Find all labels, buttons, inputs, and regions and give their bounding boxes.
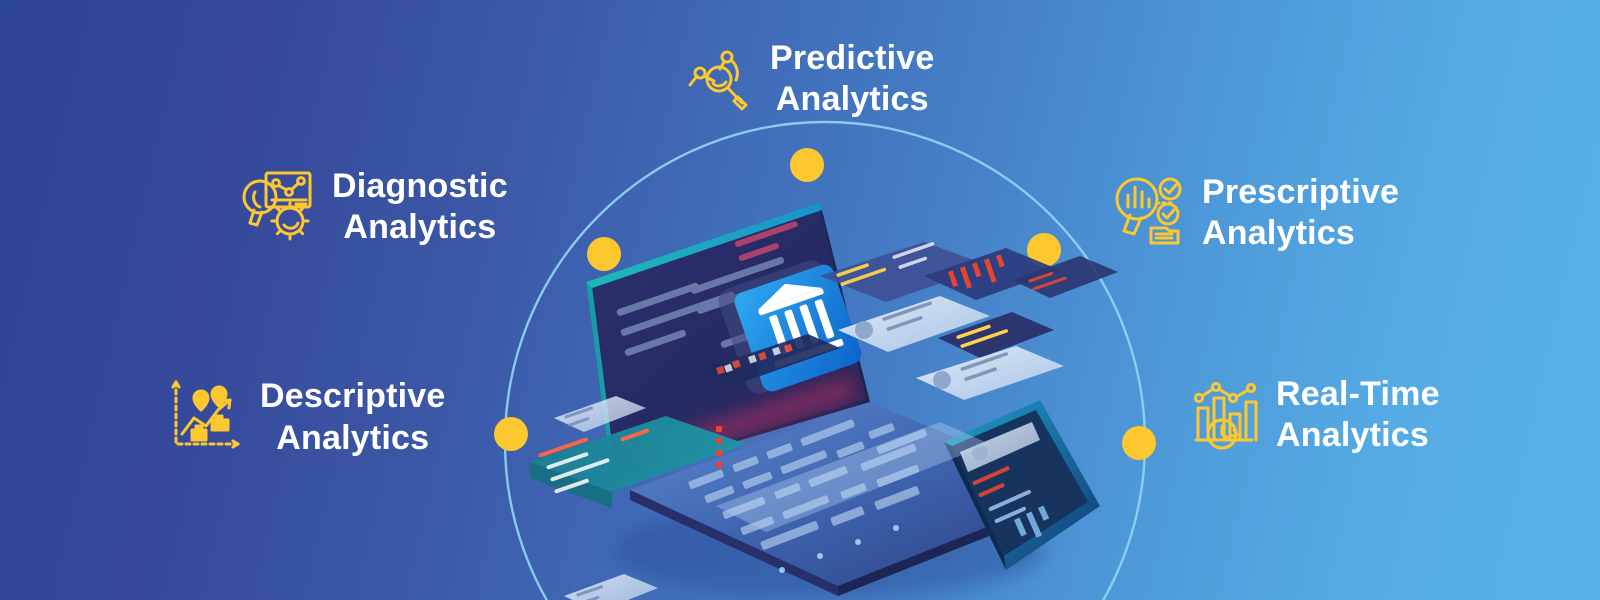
central-illustration [520, 190, 1140, 600]
orbit-dot-predictive[interactable] [790, 148, 824, 182]
node-diagnostic-label: Diagnostic Analytics [332, 166, 508, 249]
infographic-banner: Predictive Analytics Diagnostic Anal [0, 0, 1600, 600]
node-predictive-label: Predictive Analytics [770, 38, 935, 121]
node-realtime-label: Real-Time Analytics [1276, 374, 1440, 457]
predictive-analytics-icon [686, 41, 754, 118]
node-descriptive[interactable]: Descriptive Analytics [166, 376, 446, 459]
node-diagnostic[interactable]: Diagnostic Analytics [240, 166, 508, 249]
floating-card-lower-left [564, 574, 658, 600]
realtime-analytics-icon [1188, 376, 1260, 455]
prescriptive-analytics-icon [1110, 173, 1186, 254]
descriptive-analytics-icon [166, 376, 244, 459]
diagnostic-analytics-icon [240, 167, 316, 248]
node-predictive[interactable]: Predictive Analytics [686, 38, 935, 121]
node-prescriptive[interactable]: Prescriptive Analytics [1110, 172, 1399, 255]
node-realtime[interactable]: Real-Time Analytics [1188, 374, 1440, 457]
node-descriptive-label: Descriptive Analytics [260, 376, 446, 459]
node-prescriptive-label: Prescriptive Analytics [1202, 172, 1399, 255]
